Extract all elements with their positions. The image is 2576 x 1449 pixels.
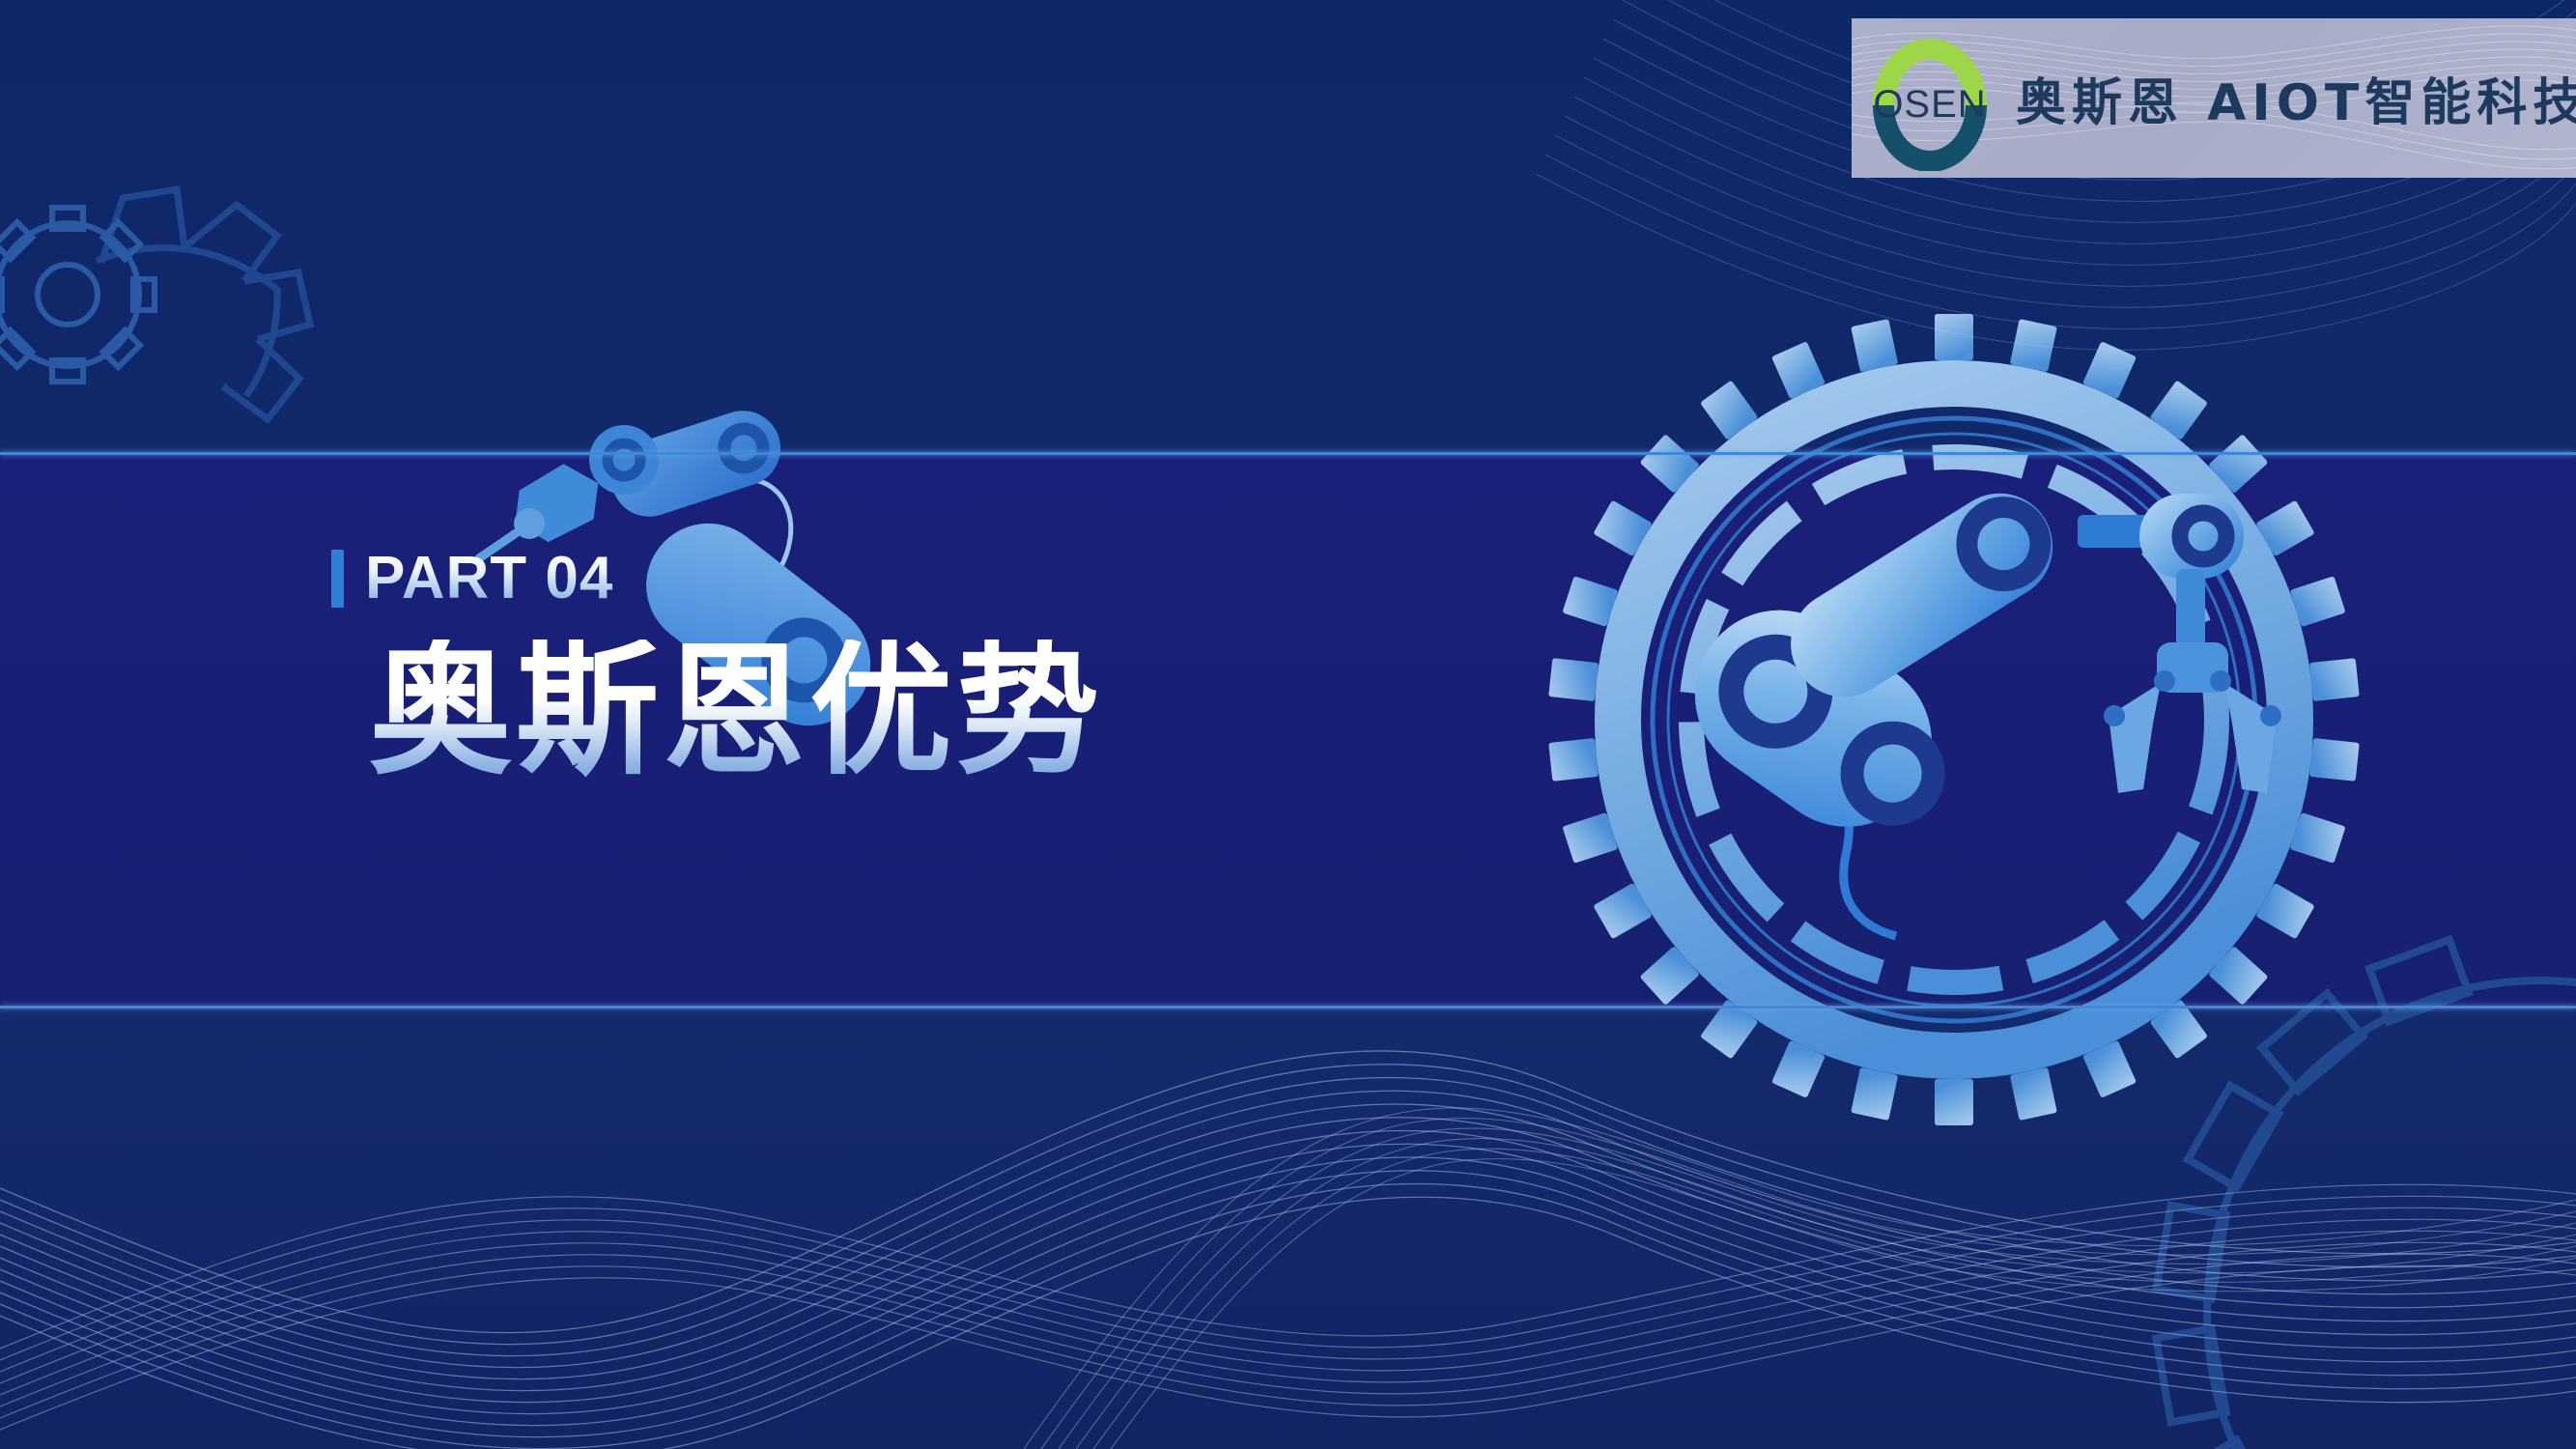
divider-line-lower: [0, 1006, 2576, 1009]
brand-name: 奥斯恩 AIOT智能科技: [2016, 62, 2576, 134]
osen-logo-icon: OSEN: [1857, 26, 2002, 171]
background-band-bottom: [0, 1008, 2576, 1449]
slide-root: PART 04 奥斯恩优势 OSEN: [0, 0, 2576, 1449]
svg-text:OSEN: OSEN: [1873, 83, 1986, 126]
divider-line-upper: [0, 452, 2576, 455]
page-title: 奥斯恩优势: [369, 639, 1103, 782]
part-label: PART 04: [365, 549, 613, 609]
brand-logo-plate[interactable]: OSEN 奥斯恩 AIOT智能科技: [1852, 18, 2576, 178]
part-label-block: PART 04: [331, 549, 613, 609]
accent-bar: [331, 550, 344, 608]
